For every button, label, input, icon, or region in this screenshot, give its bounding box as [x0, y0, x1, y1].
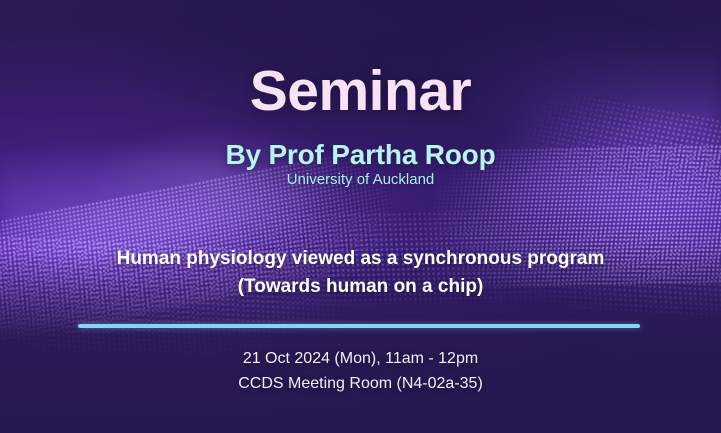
divider-line [78, 324, 640, 328]
speaker-name: By Prof Partha Roop [0, 139, 721, 171]
talk-title: Human physiology viewed as a synchronous… [0, 245, 721, 300]
talk-title-line-2: (Towards human on a chip) [0, 273, 721, 301]
poster-title: Seminar [0, 62, 721, 122]
poster-content: Seminar By Prof Partha Roop University o… [0, 0, 721, 433]
speaker-affiliation: University of Auckland [0, 171, 721, 188]
event-venue: CCDS Meeting Room (N4-02a-35) [0, 372, 721, 397]
event-datetime: 21 Oct 2024 (Mon), 11am - 12pm [0, 347, 721, 372]
seminar-poster: Seminar By Prof Partha Roop University o… [0, 0, 721, 433]
talk-title-line-1: Human physiology viewed as a synchronous… [0, 245, 721, 273]
event-details: 21 Oct 2024 (Mon), 11am - 12pm CCDS Meet… [0, 347, 721, 397]
